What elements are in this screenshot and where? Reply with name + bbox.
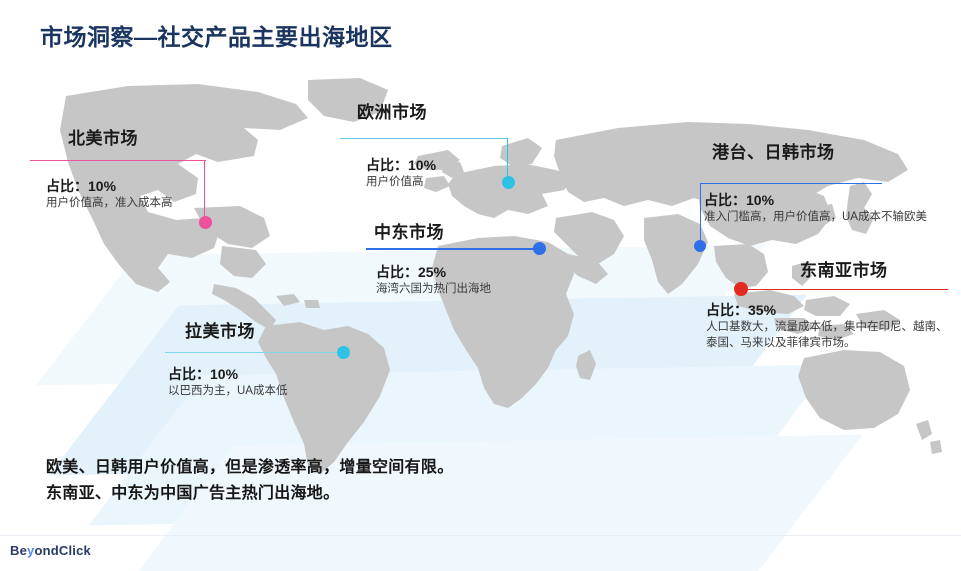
map-marker-north-america[interactable] — [199, 216, 212, 229]
callout-share-north-america: 占比：10% — [46, 176, 276, 196]
callout-share-europe: 占比：10% — [366, 155, 526, 175]
logo-part-1: Be — [10, 543, 27, 558]
connector-stem-greater-china-japan-korea — [700, 183, 701, 245]
callout-desc-europe: 用户价值高 — [366, 175, 526, 191]
callout-title-greater-china-japan-korea: 港台、日韩市场 — [712, 138, 835, 163]
callout-share-latin-america: 占比：10% — [168, 364, 388, 384]
callout-body-europe: 占比：10% 用户价值高 — [366, 155, 526, 191]
callout-north-america: 北美市场 — [68, 124, 138, 149]
callout-desc-north-america: 用户价值高，准入成本高 — [46, 196, 276, 212]
callout-title-north-america: 北美市场 — [68, 124, 138, 149]
callout-body-north-america: 占比：10% 用户价值高，准入成本高 — [46, 176, 276, 212]
footer-divider — [0, 535, 961, 536]
slide-canvas: 市场洞察—社交产品主要出海地区 北美市场 占比：10% 用户价值高，准入成本高 … — [0, 0, 961, 571]
callout-desc-southeast-asia: 人口基数大，流量成本低，集中在印尼、越南、泰国、马来以及菲律宾市场。 — [706, 320, 956, 351]
callout-middle-east: 中东市场 — [374, 218, 444, 243]
callout-share-southeast-asia: 占比：35% — [706, 300, 956, 320]
conclusion-line-1: 欧美、日韩用户价值高，但是渗透率高，增量空间有限。 — [46, 455, 454, 481]
callout-body-latin-america: 占比：10% 以巴西为主，UA成本低 — [168, 364, 388, 400]
map-marker-greater-china-japan-korea[interactable] — [694, 240, 706, 252]
callout-desc-middle-east: 海湾六国为热门出海地 — [376, 282, 576, 298]
connector-line-middle-east — [366, 248, 538, 250]
logo-part-2: ondClick — [34, 543, 91, 558]
callout-share-greater-china-japan-korea: 占比：10% — [704, 190, 956, 210]
callout-greater-china-japan-korea: 港台、日韩市场 — [712, 138, 835, 163]
map-marker-latin-america[interactable] — [337, 346, 350, 359]
callout-europe: 欧洲市场 — [357, 98, 427, 123]
callout-latin-america: 拉美市场 — [185, 317, 255, 342]
callout-desc-greater-china-japan-korea: 准入门槛高，用户价值高，UA成本不输欧美 — [704, 210, 956, 226]
callout-body-middle-east: 占比：25% 海湾六国为热门出海地 — [376, 262, 576, 298]
callout-title-southeast-asia: 东南亚市场 — [800, 256, 888, 281]
connector-line-north-america — [30, 160, 206, 161]
conclusion-line-2: 东南亚、中东为中国广告主热门出海地。 — [46, 481, 454, 507]
brand-logo: BeyondClick — [10, 543, 91, 558]
callout-title-middle-east: 中东市场 — [374, 218, 444, 243]
map-marker-middle-east[interactable] — [533, 242, 546, 255]
callout-southeast-asia: 东南亚市场 — [800, 256, 888, 281]
map-marker-southeast-asia[interactable] — [734, 282, 748, 296]
connector-line-greater-china-japan-korea — [700, 183, 882, 184]
connector-line-latin-america — [165, 352, 343, 353]
page-title: 市场洞察—社交产品主要出海地区 — [40, 18, 393, 52]
callout-title-europe: 欧洲市场 — [357, 98, 427, 123]
connector-line-southeast-asia — [748, 289, 948, 290]
callout-title-latin-america: 拉美市场 — [185, 317, 255, 342]
conclusion-text: 欧美、日韩用户价值高，但是渗透率高，增量空间有限。 东南亚、中东为中国广告主热门… — [46, 455, 454, 506]
callout-body-southeast-asia: 占比：35% 人口基数大，流量成本低，集中在印尼、越南、泰国、马来以及菲律宾市场… — [706, 300, 956, 351]
callout-desc-latin-america: 以巴西为主，UA成本低 — [168, 384, 388, 400]
connector-line-europe — [340, 138, 508, 139]
callout-share-middle-east: 占比：25% — [376, 262, 576, 282]
callout-body-greater-china-japan-korea: 占比：10% 准入门槛高，用户价值高，UA成本不输欧美 — [704, 190, 956, 226]
